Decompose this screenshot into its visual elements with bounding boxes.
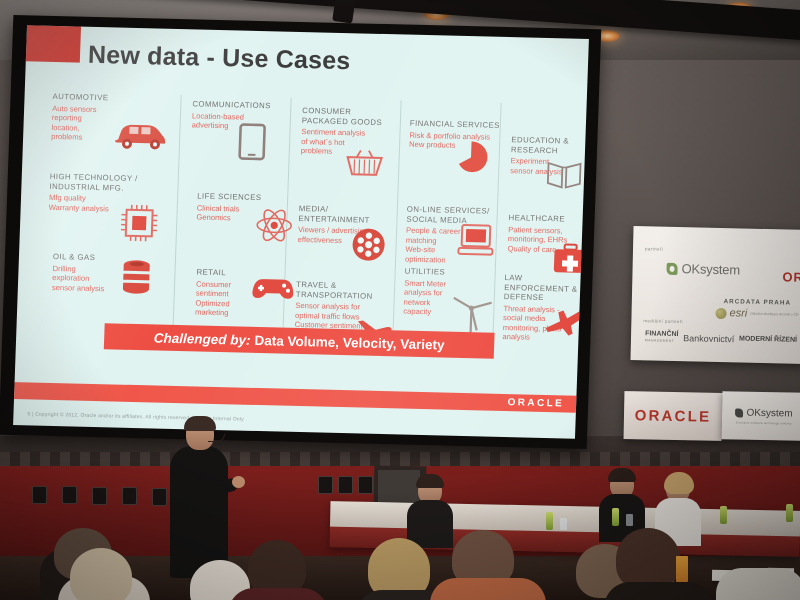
arcdata-wordmark: ARCDATA PRAHA	[716, 298, 799, 307]
slide-title: New data - Use Cases	[88, 41, 351, 76]
wall-banner-oksystem-tagline: Exclusive software technology industry	[736, 420, 792, 425]
sponsor-board: partneři OKsystem OR ARCDATA PRAHA esri …	[631, 226, 800, 364]
use-case-media-entertainment: MEDIA/ ENTERTAINMENT Viewers / advertisi…	[298, 204, 399, 247]
use-case-retail: RETAIL Consumersentiment Optimizedmarket…	[195, 267, 289, 319]
category-label: MEDIA/ ENTERTAINMENT	[298, 204, 399, 225]
headset-mic-icon	[208, 434, 225, 442]
wall-socket	[152, 488, 167, 506]
media-partners-label: mediální partneři	[643, 318, 683, 324]
wall-socket	[358, 476, 373, 494]
category-label: LAW ENFORCEMENT & DEFENSE	[504, 273, 589, 304]
panelist-hair	[416, 474, 444, 488]
category-label: EDUCATION & RESEARCH	[511, 135, 589, 156]
water-bottle	[786, 504, 793, 522]
category-label: HEALTHCARE	[508, 213, 588, 224]
shopping-basket-icon	[344, 149, 385, 178]
wall-socket	[318, 476, 333, 494]
wall-socket	[338, 476, 353, 494]
podium-monitor	[378, 470, 420, 502]
esri-logo: esri Oficiální distributor ArcGIS v ČR	[715, 307, 798, 321]
media-logo-financni: FINANČNÍMANAGEMENT	[645, 330, 679, 345]
audience-head	[70, 548, 132, 600]
water-bottle	[720, 506, 727, 524]
audience-body	[228, 588, 328, 600]
wall-socket	[32, 486, 47, 504]
use-case-oil-gas: OIL & GAS Drillingexploration sensor ana…	[52, 252, 173, 295]
presenter-body	[170, 446, 228, 578]
use-case-utilities: UTILITIES Smart Meteranalysis for networ…	[403, 267, 493, 319]
challenge-rest: Data Volume, Velocity, Variety	[254, 332, 445, 352]
atom-icon	[254, 205, 295, 246]
panelist-right	[666, 476, 690, 503]
wall-banner-oracle-text: ORACLE	[635, 407, 712, 425]
oksystem-mark-icon	[735, 408, 743, 417]
oracle-logo: ORACLE	[507, 397, 564, 409]
challenge-banner-text: Challenged by:Data Volume, Velocity, Var…	[154, 330, 445, 352]
use-case-law-enforcement: LAW ENFORCEMENT & DEFENSE Threat analysi…	[502, 273, 588, 344]
use-case-high-technology: HIGH TECHNOLOGY / INDUSTRIAL MFG. Mfg qu…	[49, 172, 174, 215]
medical-kit-icon	[551, 242, 589, 275]
water-bottle	[612, 508, 619, 526]
car-icon	[113, 119, 168, 150]
chip-icon	[117, 202, 160, 245]
drinking-glass	[626, 514, 633, 526]
oksystem-mark-icon	[666, 262, 677, 274]
book-icon	[544, 160, 585, 191]
wall-banner-oksystem-text: OKsystem	[746, 407, 792, 419]
use-case-communications: COMMUNICATIONS Location-basedadvertising	[191, 99, 288, 132]
oksystem-logo: OKsystem	[666, 261, 740, 278]
esri-tagline: Oficiální distributor ArcGIS v ČR	[750, 312, 798, 317]
use-case-financial-services: FINANCIAL SERVICES Risk & portfolio anal…	[409, 119, 502, 152]
pie-chart-icon	[454, 140, 489, 175]
use-case-travel-transportation: TRAVEL & TRANSPORTATION Sensor analysis …	[295, 280, 397, 332]
use-case-life-sciences: LIFE SCIENCES Clinical trialsGenomics	[196, 191, 289, 224]
slide-footer-bar	[14, 382, 576, 413]
water-bottle	[546, 512, 553, 530]
column-divider	[172, 95, 182, 345]
partners-label: partneři	[645, 246, 663, 251]
panelist-body	[407, 500, 453, 548]
audience-body	[604, 582, 714, 600]
conference-room-scene: New data - Use Cases AUTOMOTIVE Auto sen…	[0, 0, 800, 600]
panelist-hair	[608, 468, 636, 482]
computer-icon	[455, 222, 496, 259]
audience-body	[430, 578, 546, 600]
juice-glass	[676, 556, 688, 582]
game-controller-icon	[249, 273, 296, 304]
category-label: OIL & GAS	[53, 252, 173, 264]
esri-wordmark: esri	[729, 307, 747, 319]
use-case-grid: AUTOMOTIVE Auto sensorsreporting locatio…	[44, 92, 563, 354]
category-label: HIGH TECHNOLOGY / INDUSTRIAL MFG.	[49, 172, 174, 194]
presentation-slide: New data - Use Cases AUTOMOTIVE Auto sen…	[13, 25, 589, 438]
category-label: FINANCIAL SERVICES	[410, 119, 502, 131]
use-case-healthcare: HEALTHCARE Patient sensors,monitoring, E…	[507, 213, 589, 255]
oksystem-wordmark: OKsystem	[681, 261, 740, 277]
wall-socket	[62, 486, 77, 504]
category-label: COMMUNICATIONS	[192, 99, 288, 111]
audience-head	[616, 528, 680, 590]
tablet-icon	[236, 122, 267, 161]
drinking-glass	[560, 518, 567, 530]
arcdata-logo: ARCDATA PRAHA esri Oficiální distributor…	[715, 298, 798, 321]
use-case-automotive: AUTOMOTIVE Auto sensorsreporting locatio…	[51, 92, 175, 145]
wall-banner-oksystem: OKsystem Exclusive software technology i…	[722, 391, 800, 441]
category-label: TRAVEL & TRANSPORTATION	[296, 280, 397, 301]
presenter-hair	[184, 416, 216, 431]
media-logo-bankovnictvi: Bankovnictví	[683, 333, 734, 344]
oracle-logo-cropped: OR	[782, 269, 800, 284]
wall-socket	[122, 487, 137, 505]
use-case-consumer-packaged-goods: CONSUMER PACKAGED GOODS Sentiment analys…	[301, 106, 397, 158]
wall-socket	[92, 487, 107, 505]
panelist-hair	[664, 472, 694, 494]
panelist-center	[610, 472, 634, 499]
audience-body	[716, 568, 800, 600]
wall-banner-oksystem-logo: OKsystem	[735, 407, 792, 419]
presenter-hand	[232, 476, 245, 488]
slide-corner-accent	[26, 25, 81, 62]
use-case-online-services: ON-LINE SERVICES/ SOCIAL MEDIA People & …	[405, 205, 499, 267]
esri-globe-icon	[715, 307, 726, 318]
presenter	[168, 418, 230, 578]
film-reel-icon	[349, 225, 388, 264]
use-case-education-research: EDUCATION & RESEARCH Experimentsensor an…	[510, 135, 589, 177]
fighter-jet-icon	[542, 304, 585, 339]
media-partner-logos: FINANČNÍMANAGEMENT Bankovnictví MODERNÍ …	[645, 330, 797, 347]
oil-barrels-icon	[118, 258, 155, 299]
category-label: CONSUMER PACKAGED GOODS	[302, 106, 397, 127]
projection-screen: New data - Use Cases AUTOMOTIVE Auto sen…	[0, 15, 601, 449]
category-label: LIFE SCIENCES	[197, 191, 289, 203]
beam-clamp	[332, 0, 356, 24]
wall-banner-oracle: ORACLE	[624, 391, 723, 441]
media-logo-moderni-rizeni: MODERNÍ ŘÍZENÍ	[739, 335, 797, 344]
category-label: UTILITIES	[405, 267, 493, 279]
panelist-left	[418, 478, 442, 505]
category-label: AUTOMOTIVE	[52, 92, 174, 104]
challenge-lead: Challenged by:	[154, 330, 251, 347]
